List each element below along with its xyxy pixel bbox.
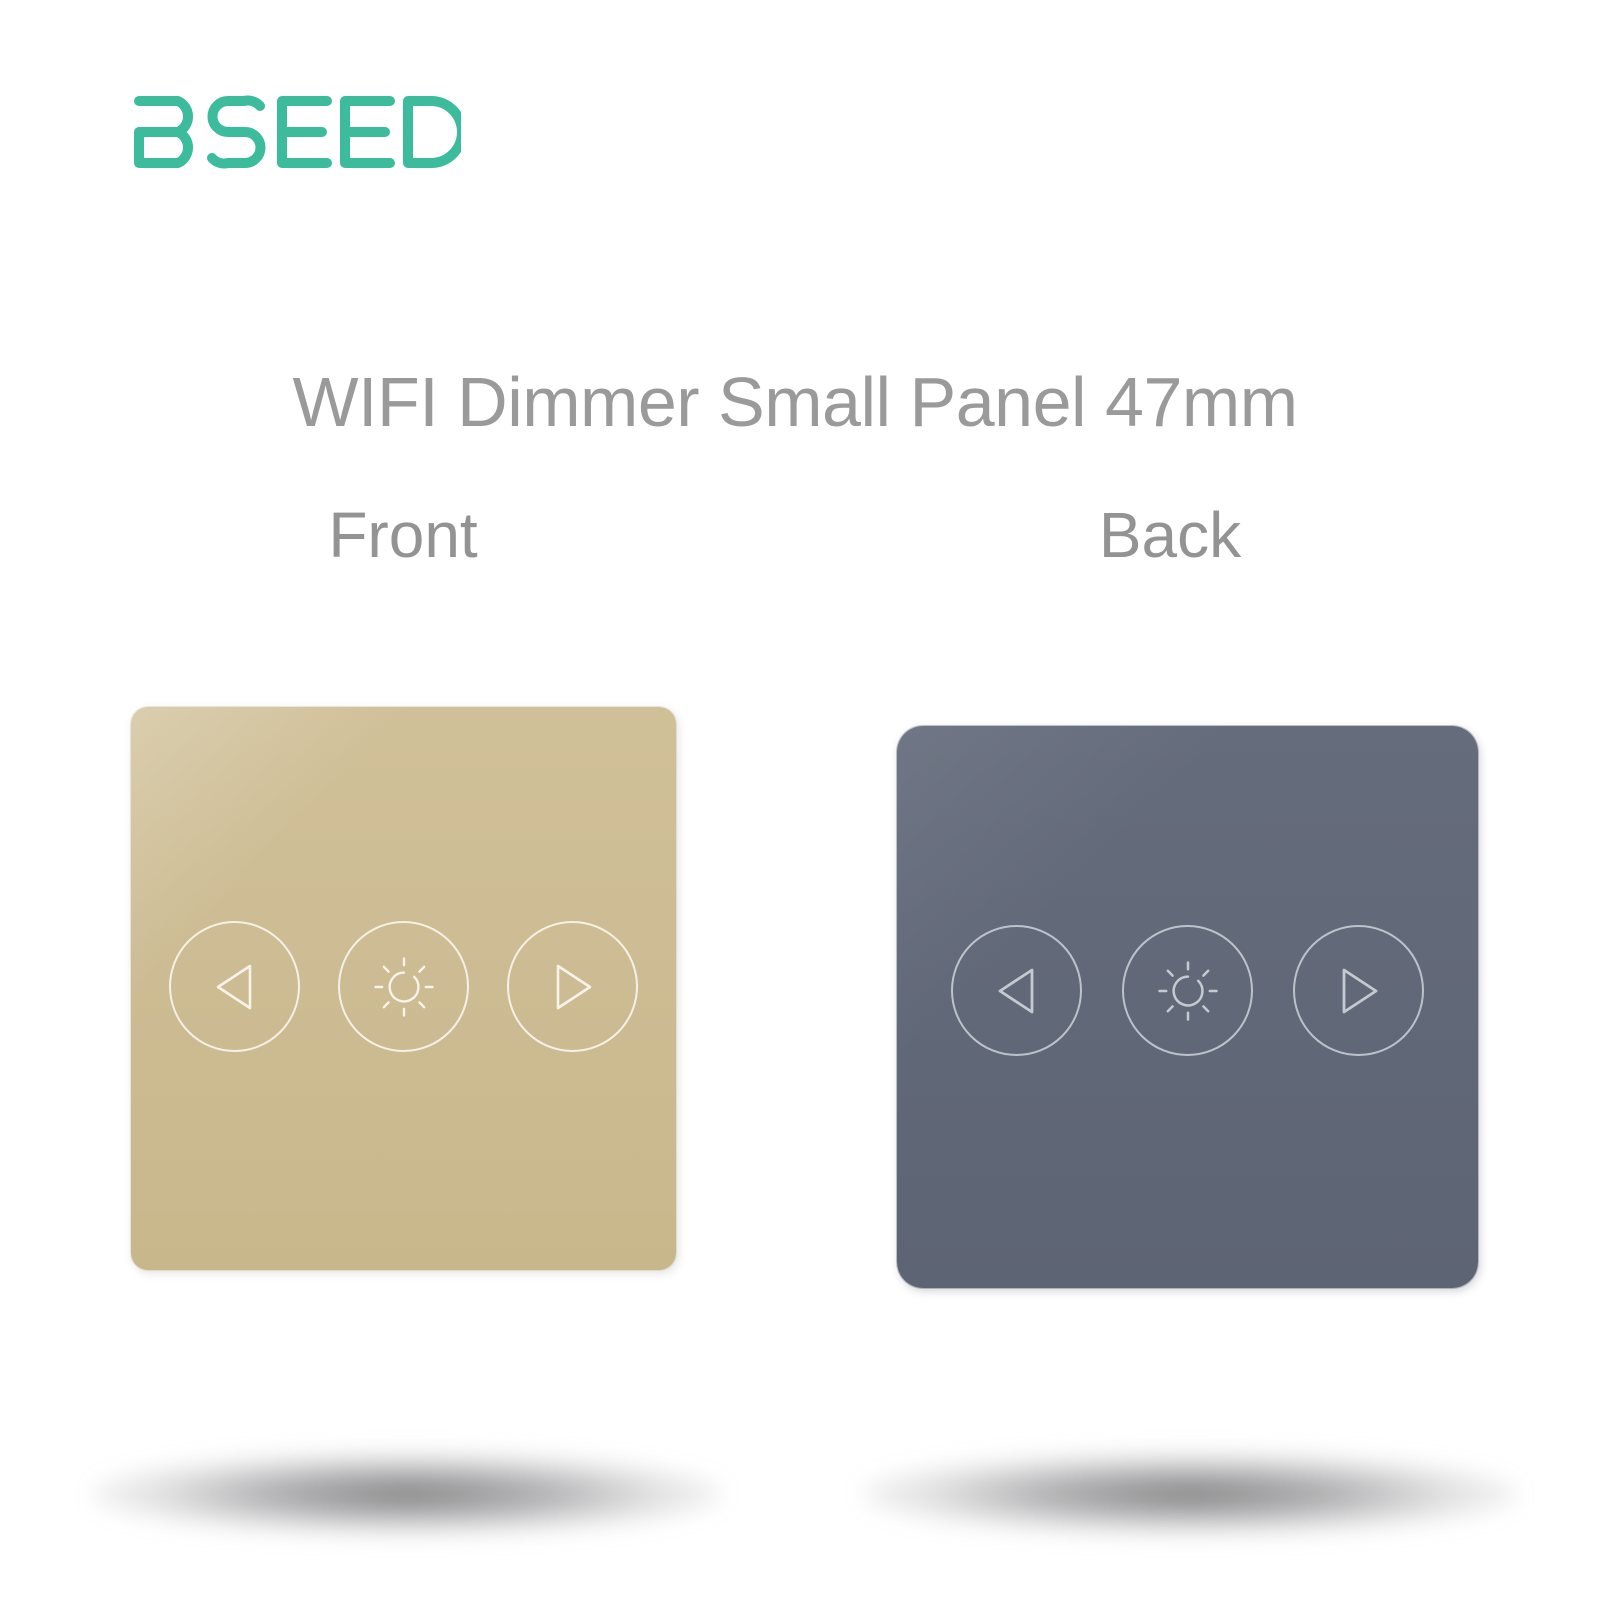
triangle-right-icon bbox=[544, 958, 602, 1016]
page-title: WIFI Dimmer Small Panel 47mm bbox=[0, 364, 1600, 441]
wifi-dimmer-panel-front[interactable] bbox=[131, 707, 676, 1270]
brightness-button[interactable] bbox=[338, 921, 469, 1052]
touch-button-row bbox=[131, 921, 676, 1052]
touch-button-row bbox=[897, 925, 1478, 1056]
panel-front-shadow bbox=[92, 1452, 722, 1536]
view-label-front: Front bbox=[123, 500, 683, 570]
dim-up-button[interactable] bbox=[507, 921, 638, 1052]
brightness-button[interactable] bbox=[1122, 925, 1253, 1056]
bseed-logo: BSEED bbox=[131, 88, 461, 176]
brightness-sun-icon bbox=[1159, 962, 1217, 1020]
dim-up-button[interactable] bbox=[1293, 925, 1424, 1056]
brightness-sun-icon bbox=[375, 958, 433, 1016]
dim-down-button[interactable] bbox=[169, 921, 300, 1052]
wifi-dimmer-panel-back[interactable] bbox=[897, 726, 1478, 1288]
dim-down-button[interactable] bbox=[951, 925, 1082, 1056]
bseed-wordmark-logo bbox=[131, 88, 461, 176]
view-label-back: Back bbox=[890, 500, 1450, 570]
triangle-left-icon bbox=[988, 962, 1046, 1020]
triangle-left-icon bbox=[206, 958, 264, 1016]
panel-back-shadow bbox=[862, 1452, 1518, 1536]
triangle-right-icon bbox=[1330, 962, 1388, 1020]
